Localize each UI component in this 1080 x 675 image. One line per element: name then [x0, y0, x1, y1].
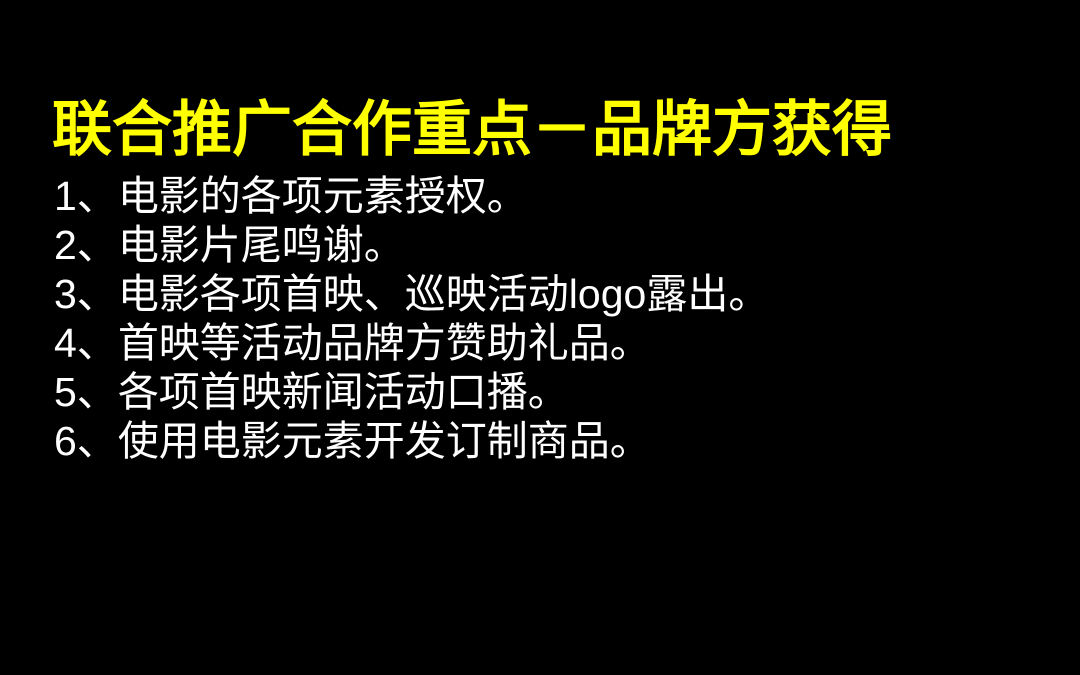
list-item-marker: 2、	[54, 222, 118, 268]
list-item-label: 首映等活动品牌方赞助礼品。	[118, 320, 651, 366]
list-item-marker: 3、	[54, 271, 118, 317]
list-item-marker: 4、	[54, 320, 118, 366]
list-item-label: 电影片尾鸣谢。	[118, 222, 405, 268]
list-item: 1、电影的各项元素授权。	[54, 172, 1044, 221]
list-item-label: 使用电影元素开发订制商品。	[118, 418, 651, 464]
page-title: 联合推广合作重点－品牌方获得	[52, 96, 1042, 163]
list-item-marker: 5、	[54, 369, 118, 415]
list-item: 3、电影各项首映、巡映活动logo露出。	[54, 270, 1044, 319]
list-item: 5、各项首映新闻活动口播。	[54, 368, 1044, 417]
list-item-label: 各项首映新闻活动口播。	[118, 369, 569, 415]
list-item-label: 电影各项首映、巡映活动logo露出。	[118, 271, 770, 317]
list-item-label: 电影的各项元素授权。	[118, 173, 528, 219]
content-list: 1、电影的各项元素授权。 2、电影片尾鸣谢。 3、电影各项首映、巡映活动logo…	[54, 172, 1044, 466]
list-item: 4、首映等活动品牌方赞助礼品。	[54, 319, 1044, 368]
list-item-marker: 6、	[54, 418, 118, 464]
list-item-marker: 1、	[54, 173, 118, 219]
list-item: 6、使用电影元素开发订制商品。	[54, 417, 1044, 466]
list-item: 2、电影片尾鸣谢。	[54, 221, 1044, 270]
presentation-slide: 联合推广合作重点－品牌方获得 1、电影的各项元素授权。 2、电影片尾鸣谢。 3、…	[0, 0, 1080, 675]
